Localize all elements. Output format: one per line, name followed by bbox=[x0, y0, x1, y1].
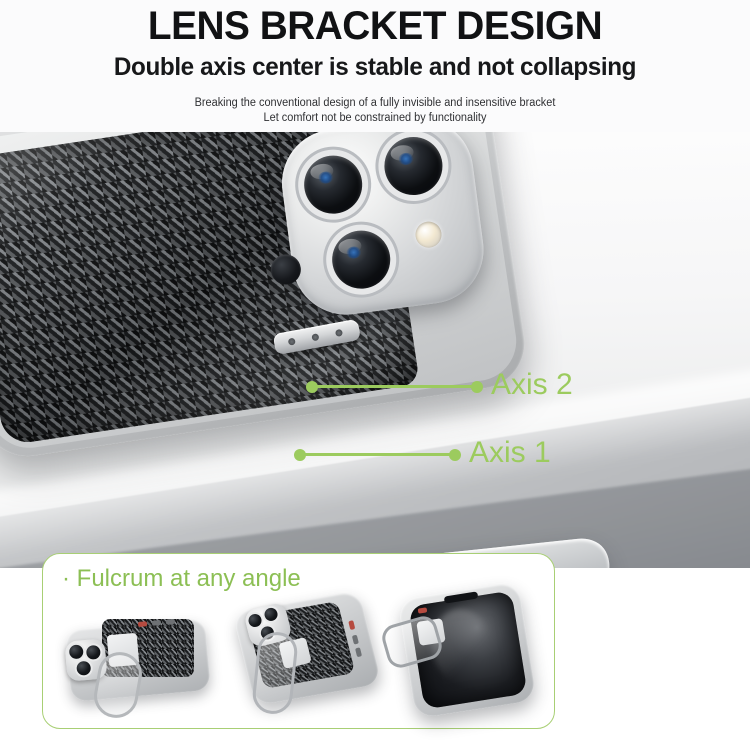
thumb2-kickstand-loop bbox=[251, 630, 299, 716]
tagline: Breaking the conventional design of a fu… bbox=[19, 96, 732, 125]
page-title: LENS BRACKET DESIGN bbox=[11, 0, 739, 46]
hinge-knuckle bbox=[335, 329, 343, 337]
fulcrum-panel-title: · Fulcrum at any angle bbox=[62, 565, 301, 593]
hinge-knuckle bbox=[311, 333, 319, 341]
thumbnail-phone-tilted-stand bbox=[225, 592, 395, 724]
thumbnail-phone-screen-stand bbox=[382, 582, 542, 722]
axis-2-label: Axis 2 bbox=[491, 368, 573, 402]
tagline-line-1: Breaking the conventional design of a fu… bbox=[19, 96, 732, 111]
axis-2-leader-line bbox=[312, 385, 478, 388]
page-subtitle: Double axis center is stable and not col… bbox=[11, 55, 739, 80]
axis-2-end-dot bbox=[471, 381, 483, 393]
hinge-knuckle bbox=[288, 338, 296, 346]
camera-lens-2 bbox=[381, 133, 446, 198]
camera-lens-1 bbox=[301, 152, 366, 217]
tagline-line-2: Let comfort not be constrained by functi… bbox=[19, 111, 732, 126]
thumbnail-phone-landscape-stand bbox=[60, 612, 220, 722]
axis-1-label: Axis 1 bbox=[469, 436, 551, 470]
camera-lens-3 bbox=[329, 227, 394, 292]
axis-1-leader-line bbox=[300, 453, 455, 456]
camera-flash bbox=[414, 220, 443, 249]
camera-island bbox=[275, 128, 490, 321]
axis-1-end-dot bbox=[449, 449, 461, 461]
header-block: LENS BRACKET DESIGN Double axis center i… bbox=[0, 0, 750, 132]
hero-product-image bbox=[0, 128, 750, 568]
